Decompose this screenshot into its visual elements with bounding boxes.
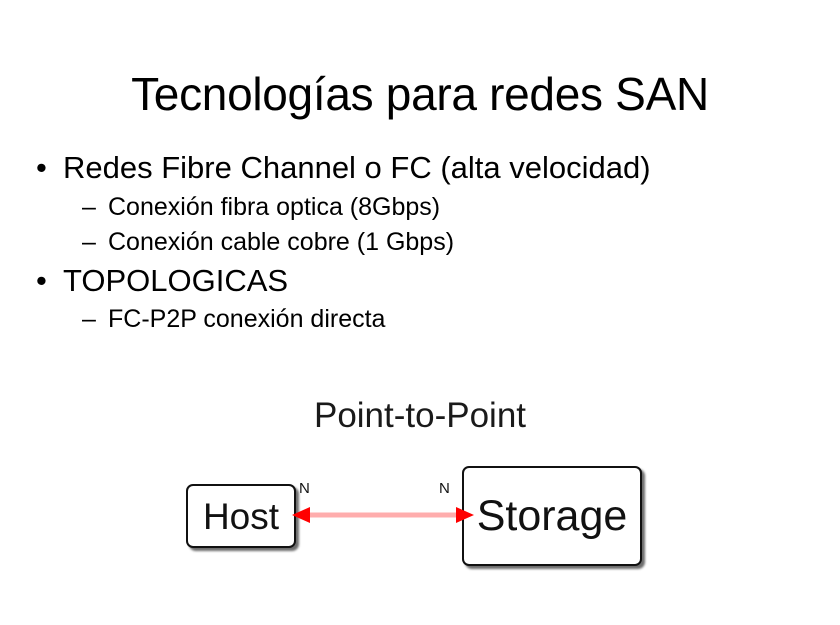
bullet-marker: – — [82, 230, 108, 255]
page-title: Tecnologías para redes SAN — [0, 69, 840, 120]
diagram-node-storage: Storage — [462, 466, 642, 566]
diagram-node-storage-label: Storage — [477, 495, 628, 538]
diagram-node-host-label: Host — [203, 498, 279, 535]
bidirectional-arrow-icon — [288, 500, 478, 530]
diagram-node-host: Host — [186, 484, 296, 548]
slide: Tecnologías para redes SAN • Redes Fibre… — [0, 0, 840, 625]
list-item: – FC-P2P conexión directa — [82, 303, 816, 336]
list-item: – Conexión cable cobre (1 Gbps) — [82, 226, 816, 259]
bullet-marker: • — [36, 265, 63, 296]
list-item: – Conexión fibra optica (8Gbps) — [82, 191, 816, 224]
bullet-marker: – — [82, 195, 108, 220]
bullet-marker: • — [36, 152, 63, 183]
list-item-label: Redes Fibre Channel o FC (alta velocidad… — [63, 148, 651, 188]
list-item-label: TOPOLOGICAS — [63, 261, 288, 301]
bullet-marker: – — [82, 307, 108, 332]
port-label-storage: N — [439, 481, 450, 496]
list-item-label: FC-P2P conexión directa — [108, 303, 385, 336]
list-item: • TOPOLOGICAS — [36, 261, 816, 301]
list-item: • Redes Fibre Channel o FC (alta velocid… — [36, 148, 816, 188]
list-item-label: Conexión cable cobre (1 Gbps) — [108, 226, 454, 259]
diagram-title: Point-to-Point — [0, 396, 840, 436]
list-item-label: Conexión fibra optica (8Gbps) — [108, 191, 440, 224]
port-label-host: N — [299, 481, 310, 496]
bullet-list: • Redes Fibre Channel o FC (alta velocid… — [36, 146, 816, 337]
